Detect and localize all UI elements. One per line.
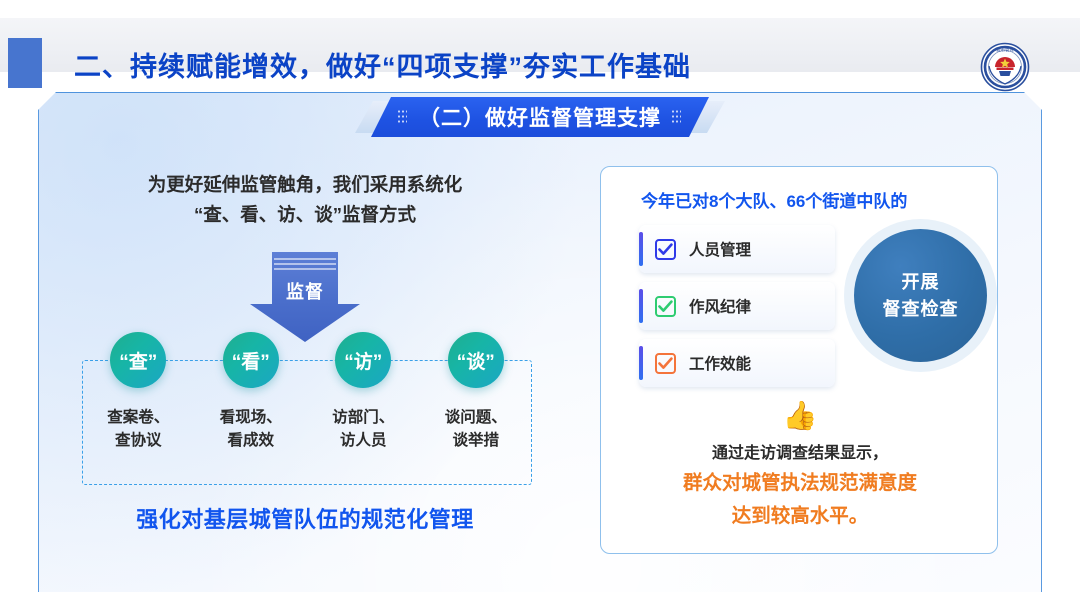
check-item-efficiency[interactable]: 工作效能 [639, 339, 835, 387]
badge-line-1: 开展 [902, 269, 940, 296]
checkbox-checked-icon[interactable] [655, 239, 676, 260]
arrow-stripe-2 [274, 263, 336, 265]
ribbon-dots-left-icon [397, 109, 407, 125]
intro-line-2: “查、看、访、谈”监督方式 [60, 200, 550, 230]
ribbon-dots-right-icon [671, 109, 681, 125]
check-label-personnel: 人员管理 [689, 238, 751, 260]
method-label-fang: 访部门、 访人员 [332, 406, 394, 452]
method-circle-fang: “访” [335, 332, 391, 388]
survey-result-text: 群众对城管执法规范满意度 达到较高水平。 [601, 467, 999, 533]
check-label-efficiency: 工作效能 [689, 352, 751, 374]
badge-line-2: 督查检查 [883, 296, 959, 323]
check-label-discipline: 作风纪律 [689, 295, 751, 317]
method-label-tan: 谈问题、 谈举措 [445, 406, 507, 452]
arrow-stripe-3 [274, 268, 336, 270]
section-title: （二）做好监督管理支撑 [419, 102, 661, 132]
arrow-label: 监督 [250, 278, 360, 304]
method-item-tan: “谈” 谈问题、 谈举措 [426, 332, 526, 452]
section-ribbon: （二）做好监督管理支撑 [371, 97, 709, 137]
method-circle-tan: “谈” [448, 332, 504, 388]
inspection-badge: 开展 督查检查 [854, 229, 987, 362]
title-bar: 二、持续赋能增效，做好“四项支撑”夯实工作基础 城市管理 [0, 18, 1080, 72]
check-list: 人员管理 作风纪律 工作效能 [639, 225, 835, 396]
title-accent-block [8, 38, 42, 88]
method-item-kan: “看” 看现场、 看成效 [201, 332, 301, 452]
checkbox-checked-icon[interactable] [655, 353, 676, 374]
section-header: （二）做好监督管理支撑 [355, 97, 725, 137]
right-panel-heading: 今年已对8个大队、66个街道中队的 [641, 187, 907, 212]
page-title: 二、持续赋能增效，做好“四项支撑”夯实工作基础 [74, 45, 691, 84]
intro-text: 为更好延伸监管触角，我们采用系统化 “查、看、访、谈”监督方式 [60, 170, 550, 230]
method-item-fang: “访” 访部门、 访人员 [313, 332, 413, 452]
method-label-cha: 查案卷、 查协议 [107, 406, 169, 452]
checkbox-checked-icon[interactable] [655, 296, 676, 317]
left-column: 为更好延伸监管触角，我们采用系统化 “查、看、访、谈”监督方式 监督 “查” 查… [60, 160, 550, 560]
right-panel: 今年已对8个大队、66个街道中队的 人员管理 作风纪律 工作效能 [600, 166, 998, 554]
method-label-kan: 看现场、 看成效 [220, 406, 282, 452]
intro-line-1: 为更好延伸监管触角，我们采用系统化 [60, 170, 550, 200]
left-conclusion-text: 强化对基层城管队伍的规范化管理 [60, 502, 550, 534]
slide-root: 二、持续赋能增效，做好“四项支撑”夯实工作基础 城市管理 （二）做好监督管理支撑 [0, 0, 1080, 608]
check-item-personnel[interactable]: 人员管理 [639, 225, 835, 273]
check-item-discipline[interactable]: 作风纪律 [639, 282, 835, 330]
arrow-stripe-1 [274, 258, 336, 260]
method-circle-kan: “看” [223, 332, 279, 388]
methods-row: “查” 查案卷、 查协议 “看” 看现场、 看成效 “访” 访部门、 访人员 “… [82, 332, 532, 492]
svg-text:城市管理: 城市管理 [996, 47, 1014, 54]
survey-note-text: 通过走访调查结果显示， [601, 439, 999, 463]
supervision-arrow: 监督 [250, 252, 360, 342]
thumbs-up-icon: 👍 [601, 401, 999, 431]
method-item-cha: “查” 查案卷、 查协议 [88, 332, 188, 452]
agency-emblem-icon: 城市管理 [980, 42, 1030, 92]
method-circle-cha: “查” [110, 332, 166, 388]
